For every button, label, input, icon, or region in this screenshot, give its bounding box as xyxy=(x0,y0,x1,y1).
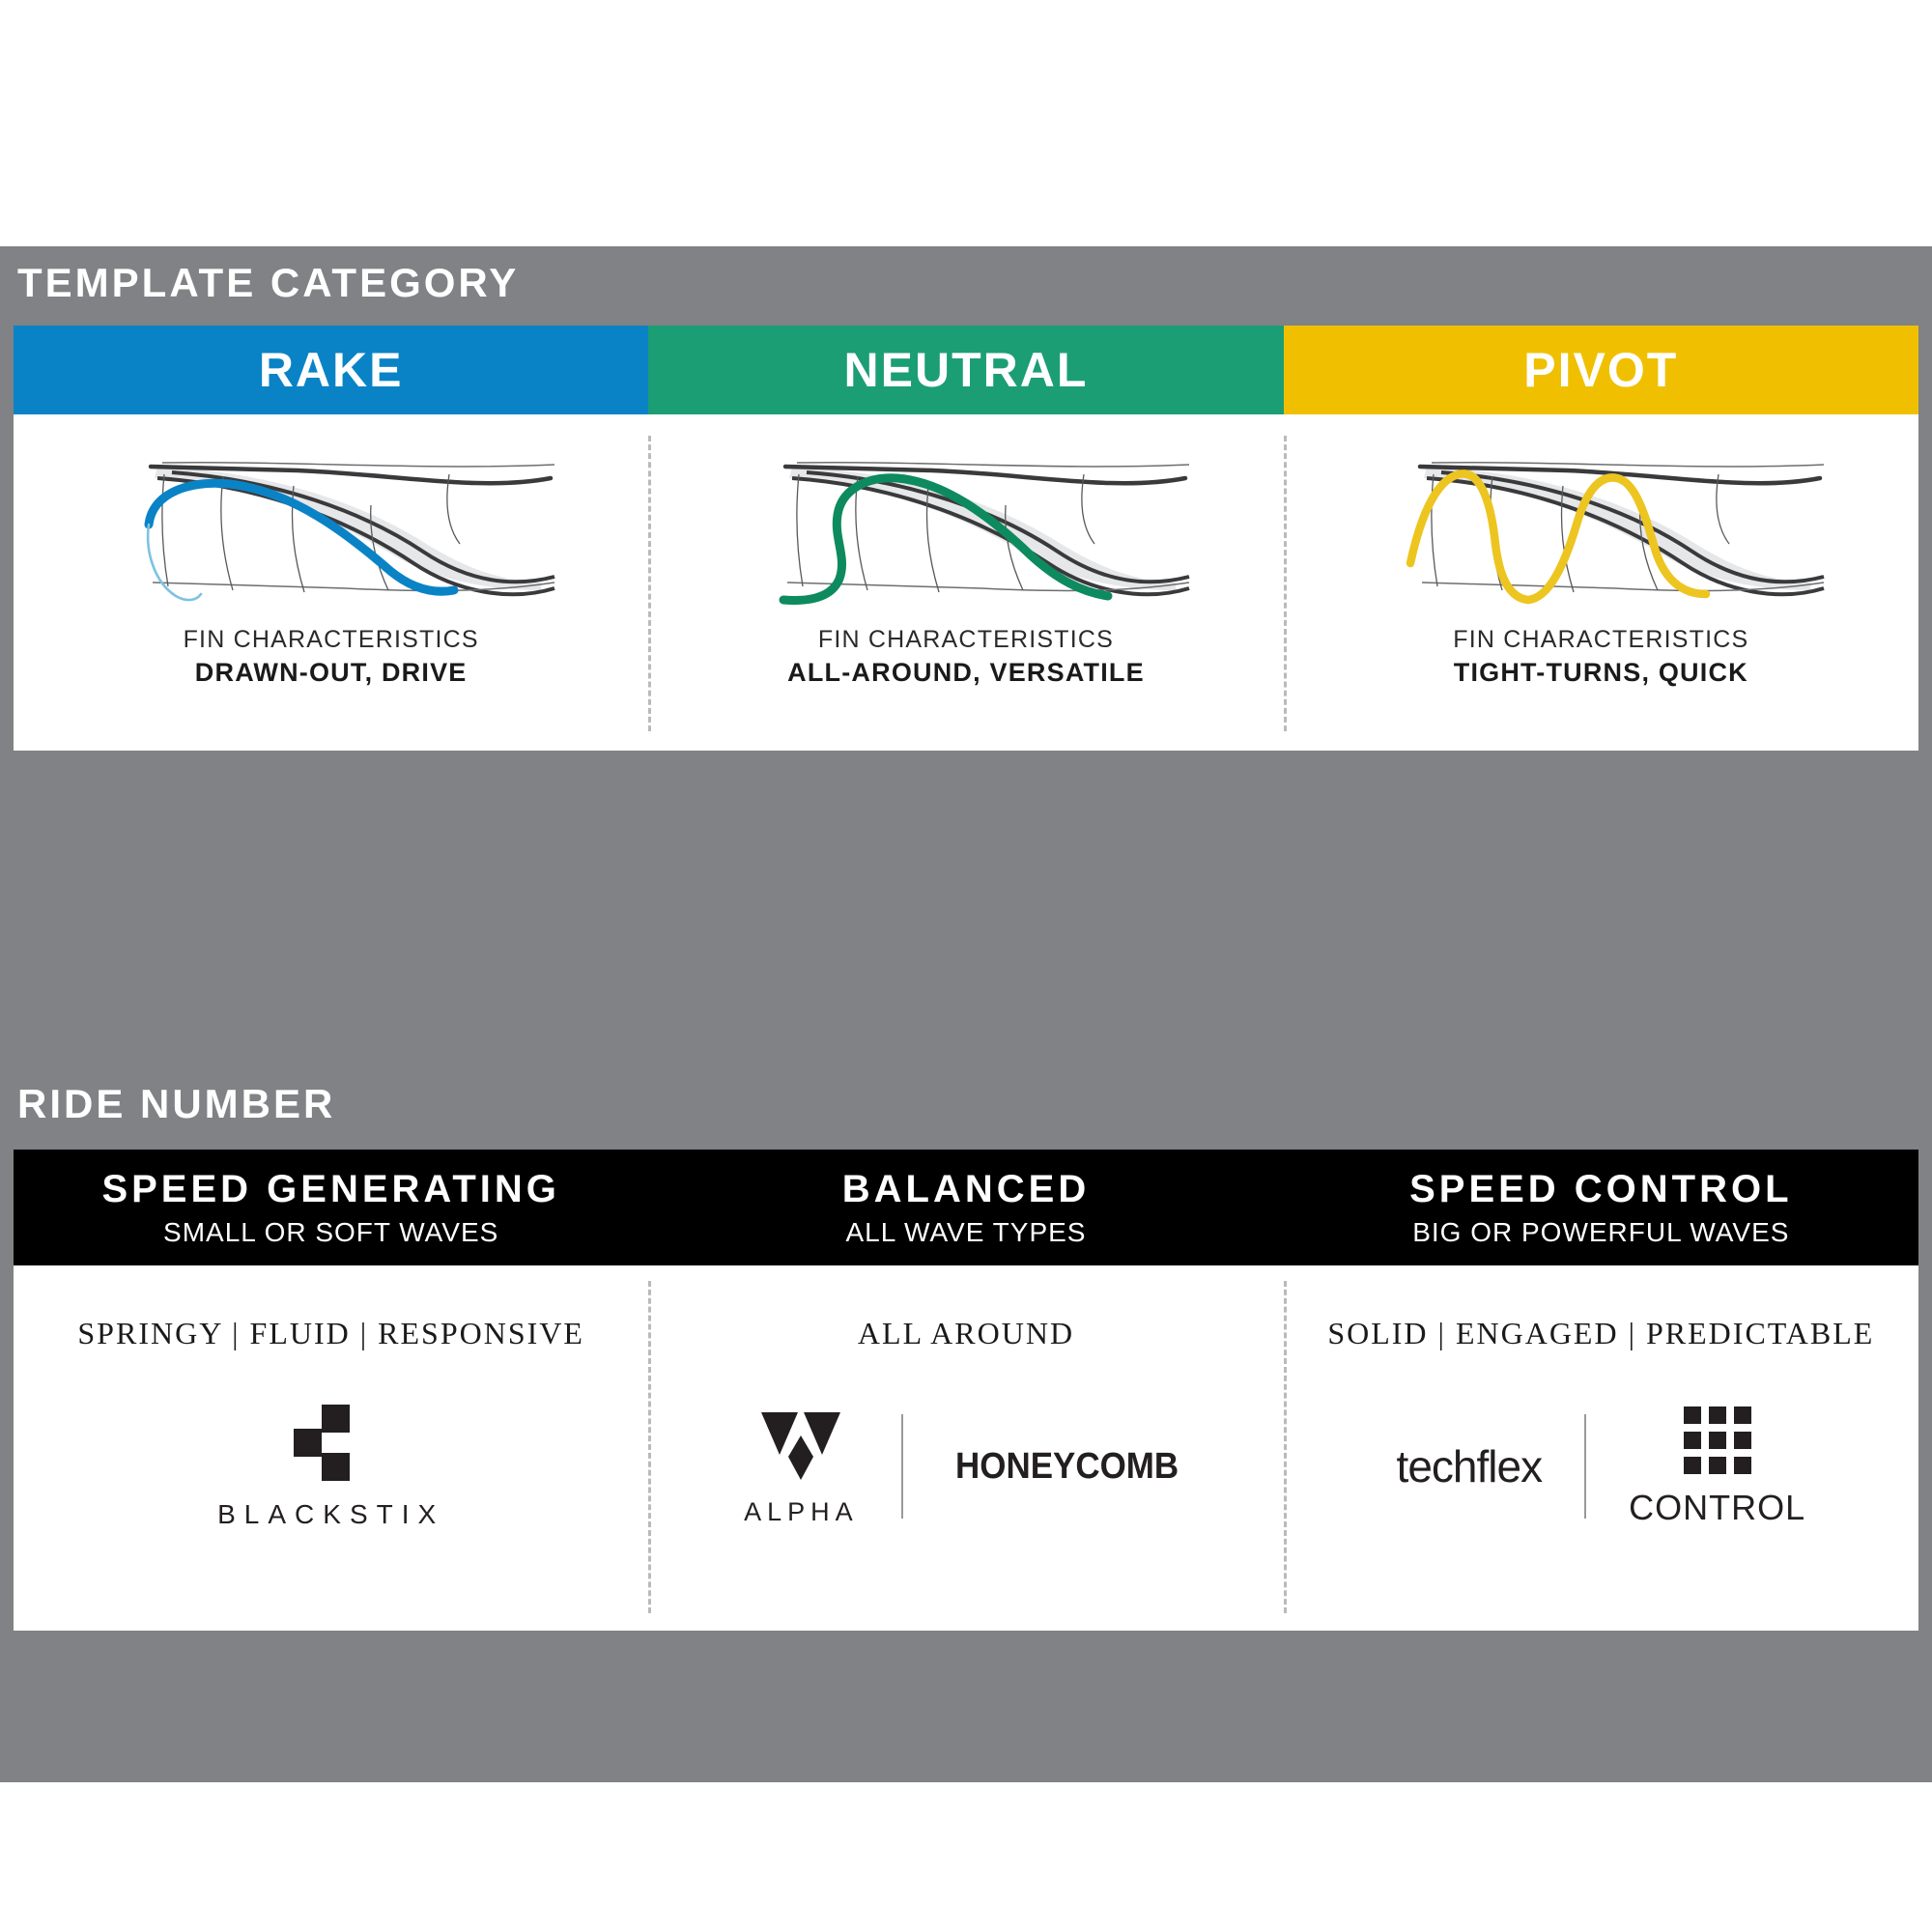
ride-descriptor-speed-control: SOLID | ENGAGED | PREDICTABLE xyxy=(1327,1316,1874,1351)
ride-tab-speed-generating-title: SPEED GENERATING xyxy=(101,1167,559,1212)
ride-number-content: SPRINGY | FLUID | RESPONSIVE BLACKSTIX A… xyxy=(14,1265,1918,1631)
brand-divider-balanced xyxy=(901,1414,903,1519)
ride-tab-speed-generating-subtitle: SMALL OR SOFT WAVES xyxy=(163,1216,498,1248)
fin-outline-upright-icon xyxy=(1374,436,1828,619)
brand-wordmark-blackstix: BLACKSTIX xyxy=(217,1499,444,1530)
brand-row-speed-generating: BLACKSTIX xyxy=(14,1394,648,1539)
fin-outline-raked-icon xyxy=(104,436,558,619)
brand-control[interactable]: CONTROL xyxy=(1629,1405,1805,1528)
template-category-heading: TEMPLATE CATEGORY xyxy=(17,263,519,303)
brand-row-balanced: ALPHA HONEYCOMB xyxy=(648,1394,1283,1539)
brand-wordmark-control: CONTROL xyxy=(1629,1488,1805,1528)
control-grid-icon xyxy=(1682,1405,1753,1476)
ride-descriptor-balanced: ALL AROUND xyxy=(858,1316,1074,1351)
ride-tab-speed-control-title: SPEED CONTROL xyxy=(1409,1167,1792,1212)
category-cell-pivot: FIN CHARACTERISTICS TIGHT-TURNS, QUICK xyxy=(1284,414,1918,751)
ride-tab-balanced[interactable]: BALANCED ALL WAVE TYPES xyxy=(648,1150,1283,1265)
fin-characteristics-value-rake: DRAWN-OUT, DRIVE xyxy=(184,657,479,690)
ride-number-panel: SPEED GENERATING SMALL OR SOFT WAVES BAL… xyxy=(14,1150,1918,1631)
template-category-panel: RAKE NEUTRAL PIVOT xyxy=(14,326,1918,751)
fin-caption-rake: FIN CHARACTERISTICS DRAWN-OUT, DRIVE xyxy=(184,625,479,690)
brand-wordmark-honeycomb: HONEYCOMB xyxy=(955,1446,1179,1488)
brand-wordmark-techflex: techflex xyxy=(1397,1440,1543,1492)
category-tab-pivot[interactable]: PIVOT xyxy=(1284,326,1918,414)
stix-blocks-icon xyxy=(294,1403,369,1484)
ride-tab-speed-control-subtitle: BIG OR POWERFUL WAVES xyxy=(1412,1216,1789,1248)
brand-blackstix[interactable]: BLACKSTIX xyxy=(217,1403,444,1530)
ride-tab-speed-generating[interactable]: SPEED GENERATING SMALL OR SOFT WAVES xyxy=(14,1150,648,1265)
template-category-content: FIN CHARACTERISTICS DRAWN-OUT, DRIVE xyxy=(14,414,1918,751)
fin-characteristics-label-pivot: FIN CHARACTERISTICS xyxy=(1453,625,1748,655)
ride-cell-speed-generating: SPRINGY | FLUID | RESPONSIVE BLACKSTIX xyxy=(14,1265,648,1631)
category-tab-neutral[interactable]: NEUTRAL xyxy=(648,326,1283,414)
fin-characteristics-label-neutral: FIN CHARACTERISTICS xyxy=(787,625,1145,655)
fin-caption-pivot: FIN CHARACTERISTICS TIGHT-TURNS, QUICK xyxy=(1453,625,1748,690)
infographic-page: TEMPLATE CATEGORY RAKE NEUTRAL PIVOT xyxy=(0,0,1932,1932)
brand-honeycomb[interactable]: HONEYCOMB xyxy=(946,1446,1188,1488)
category-cell-neutral: FIN CHARACTERISTICS ALL-AROUND, VERSATIL… xyxy=(648,414,1283,751)
category-tab-neutral-label: NEUTRAL xyxy=(844,342,1089,398)
ride-cell-speed-control: SOLID | ENGAGED | PREDICTABLE techflex xyxy=(1284,1265,1918,1631)
ride-tab-speed-control[interactable]: SPEED CONTROL BIG OR POWERFUL WAVES xyxy=(1284,1150,1918,1265)
ride-tab-balanced-title: BALANCED xyxy=(842,1167,1090,1212)
ride-descriptor-speed-generating: SPRINGY | FLUID | RESPONSIVE xyxy=(77,1316,584,1351)
brand-row-speed-control: techflex xyxy=(1284,1394,1918,1539)
category-cell-rake: FIN CHARACTERISTICS DRAWN-OUT, DRIVE xyxy=(14,414,648,751)
alpha-triangles-icon xyxy=(759,1406,842,1486)
category-tab-rake[interactable]: RAKE xyxy=(14,326,648,414)
fin-caption-neutral: FIN CHARACTERISTICS ALL-AROUND, VERSATIL… xyxy=(787,625,1145,690)
fin-outline-neutral-icon xyxy=(739,436,1193,619)
ride-cell-balanced: ALL AROUND ALPHA HONEYCOMB xyxy=(648,1265,1283,1631)
ride-number-tabs: SPEED GENERATING SMALL OR SOFT WAVES BAL… xyxy=(14,1150,1918,1265)
brand-techflex[interactable]: techflex xyxy=(1397,1440,1543,1492)
brand-wordmark-alpha: ALPHA xyxy=(744,1497,859,1527)
ride-number-heading: RIDE NUMBER xyxy=(17,1084,335,1124)
fin-characteristics-value-pivot: TIGHT-TURNS, QUICK xyxy=(1453,657,1748,690)
ride-tab-balanced-subtitle: ALL WAVE TYPES xyxy=(846,1216,1087,1248)
fin-characteristics-value-neutral: ALL-AROUND, VERSATILE xyxy=(787,657,1145,690)
template-category-tabs: RAKE NEUTRAL PIVOT xyxy=(14,326,1918,414)
category-tab-rake-label: RAKE xyxy=(259,342,404,398)
brand-alpha[interactable]: ALPHA xyxy=(744,1406,859,1527)
category-tab-pivot-label: PIVOT xyxy=(1523,342,1678,398)
fin-characteristics-label-rake: FIN CHARACTERISTICS xyxy=(184,625,479,655)
brand-divider-speed-control xyxy=(1584,1414,1586,1519)
